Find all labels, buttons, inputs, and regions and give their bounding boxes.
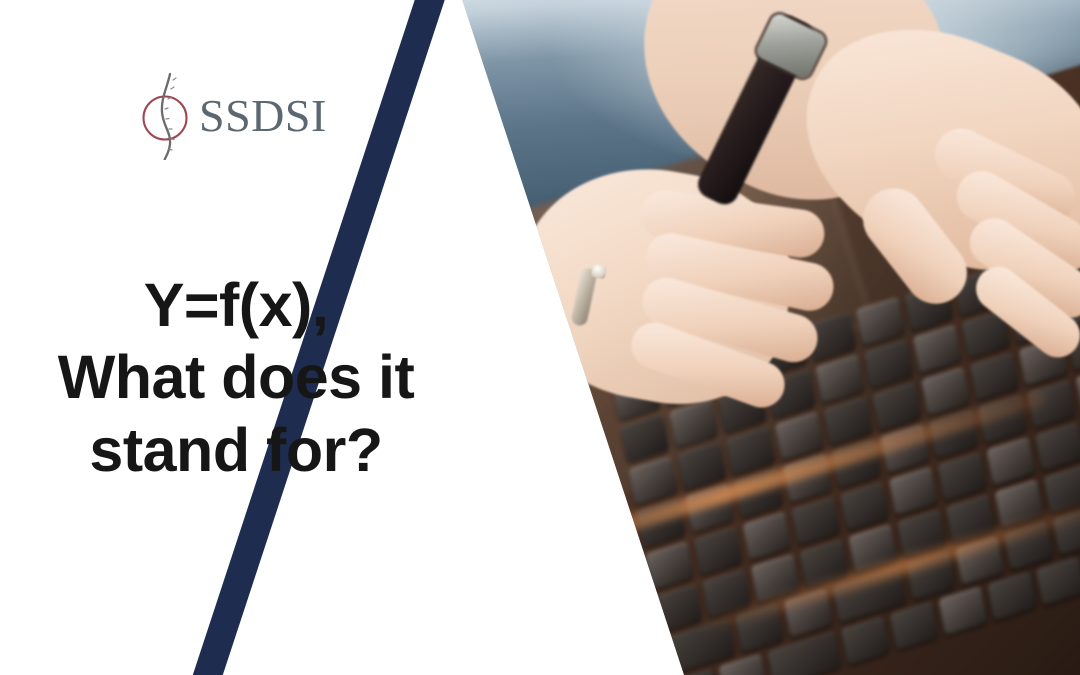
ssdsi-circle-spine-icon [137, 72, 199, 160]
ring-stone [591, 264, 607, 280]
page-title: Y=f(x), What does it stand for? [0, 269, 472, 487]
headline-line-3: stand for? [0, 414, 472, 487]
brand-wordmark: SSDSI [199, 93, 327, 139]
brand-logo[interactable]: SSDSI [137, 72, 327, 160]
headline-line-1: Y=f(x), [0, 269, 472, 342]
promo-banner: SSDSI Y=f(x), What does it stand for? [0, 0, 1080, 675]
headline-line-2: What does it [0, 341, 472, 414]
